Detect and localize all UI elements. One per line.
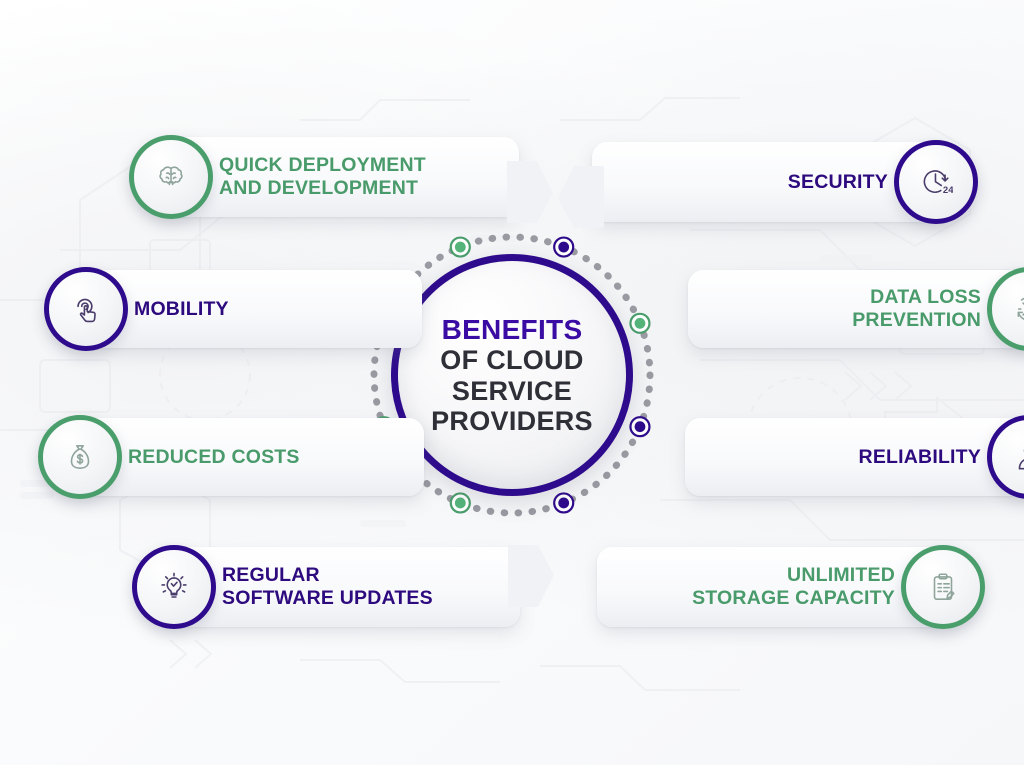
benefit-card-security[interactable]: SECURITY 24 bbox=[592, 142, 974, 222]
hub-title-line-3: SERVICE bbox=[452, 376, 572, 406]
tap-gesture-icon-badge bbox=[44, 267, 128, 351]
svg-text:24: 24 bbox=[943, 185, 953, 196]
clipboard-check-icon-badge bbox=[901, 545, 985, 629]
money-bag-icon bbox=[63, 440, 97, 474]
card-tail-security bbox=[556, 166, 604, 228]
hub-title-line-1: BENEFITS bbox=[442, 314, 583, 345]
benefit-card-reliability[interactable]: RELIABILITY bbox=[685, 418, 1024, 496]
benefit-label-quick-deployment: QUICK DEPLOYMENT AND DEVELOPMENT bbox=[207, 154, 426, 200]
clock-24-icon: 24 bbox=[919, 165, 953, 199]
benefit-card-data-loss-prevention[interactable]: DATA LOSS PREVENTION bbox=[688, 270, 1024, 348]
tap-gesture-icon bbox=[69, 292, 103, 326]
user-tie-icon-badge bbox=[987, 415, 1024, 499]
benefit-card-mobility[interactable]: MOBILITY bbox=[48, 270, 422, 348]
hub-accent-dot-core-5 bbox=[455, 498, 466, 509]
brain-icon-badge bbox=[129, 135, 213, 219]
hub-accent-dot-core-3 bbox=[635, 421, 646, 432]
lightbulb-icon bbox=[157, 570, 191, 604]
benefit-label-regular-software-updates: REGULAR SOFTWARE UPDATES bbox=[210, 564, 433, 610]
infographic-canvas: BENEFITS OF CLOUD SERVICE PROVIDERS QUIC… bbox=[0, 0, 1024, 765]
hub-accent-dot-core-2 bbox=[635, 318, 646, 329]
clock-24-icon-badge: 24 bbox=[894, 140, 978, 224]
card-tail-regular-software-updates bbox=[508, 545, 556, 607]
benefit-card-reduced-costs[interactable]: REDUCED COSTS bbox=[42, 418, 424, 496]
brain-icon bbox=[154, 160, 188, 194]
hub-disc: BENEFITS OF CLOUD SERVICE PROVIDERS bbox=[391, 254, 633, 496]
benefit-label-reliability: RELIABILITY bbox=[859, 446, 993, 469]
benefit-label-mobility: MOBILITY bbox=[122, 298, 229, 321]
benefit-label-reduced-costs: REDUCED COSTS bbox=[116, 446, 300, 469]
benefit-label-unlimited-storage-capacity: UNLIMITED STORAGE CAPACITY bbox=[692, 564, 907, 610]
user-tie-icon bbox=[1012, 440, 1024, 474]
card-tail-quick-deployment bbox=[507, 161, 555, 223]
benefit-card-quick-deployment[interactable]: QUICK DEPLOYMENT AND DEVELOPMENT bbox=[133, 137, 519, 217]
hub-accent-dot-core-1 bbox=[558, 242, 569, 253]
hub-accent-dot-core-4 bbox=[558, 498, 569, 509]
hub-accent-dot-core-0 bbox=[455, 242, 466, 253]
gear-sync-icon-badge bbox=[987, 267, 1024, 351]
benefit-card-regular-software-updates[interactable]: REGULAR SOFTWARE UPDATES bbox=[136, 547, 520, 627]
money-bag-icon-badge bbox=[38, 415, 122, 499]
benefit-label-security: SECURITY bbox=[788, 171, 900, 194]
benefit-card-unlimited-storage-capacity[interactable]: UNLIMITED STORAGE CAPACITY bbox=[597, 547, 981, 627]
hub-title-line-2: OF CLOUD bbox=[440, 345, 583, 375]
gear-sync-icon bbox=[1012, 292, 1024, 326]
clipboard-check-icon bbox=[926, 570, 960, 604]
benefit-label-data-loss-prevention: DATA LOSS PREVENTION bbox=[852, 286, 993, 332]
lightbulb-icon-badge bbox=[132, 545, 216, 629]
hub-title-line-4: PROVIDERS bbox=[431, 406, 593, 436]
